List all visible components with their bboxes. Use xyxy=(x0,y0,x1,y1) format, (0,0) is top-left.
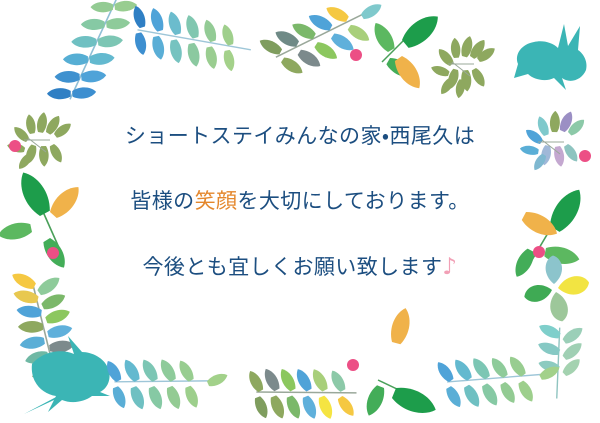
greeting-card: ショートステイみんなの家・西尾久は 皆様の笑顔を大切にしております。 今後とも宜… xyxy=(0,0,600,423)
message-line-2-suffix: を大切にしております。 xyxy=(237,189,469,213)
message-line-3: 今後とも宜しくお願い致します♪ xyxy=(143,256,458,279)
message-block: ショートステイみんなの家・西尾久は 皆様の笑顔を大切にしております。 今後とも宜… xyxy=(0,0,600,423)
message-line-2: 皆様の笑顔を大切にしております。 xyxy=(130,191,469,212)
message-highlight-smile: 笑顔 xyxy=(195,189,238,213)
message-line-2-prefix: 皆様の xyxy=(130,189,194,213)
message-line-1: ショートステイみんなの家・西尾久は xyxy=(125,126,475,147)
music-note-icon: ♪ xyxy=(442,254,457,280)
message-line-1-text: ショートステイみんなの家・西尾久は xyxy=(125,124,475,148)
message-line-3-text: 今後とも宜しくお願い致します xyxy=(143,255,443,279)
